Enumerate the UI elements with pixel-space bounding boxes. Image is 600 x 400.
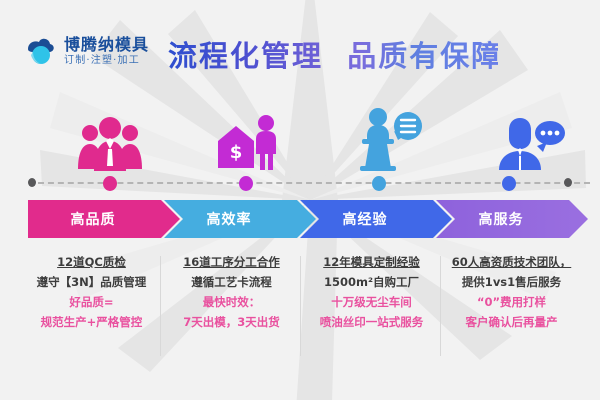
timeline xyxy=(14,176,586,190)
group-of-people-icon xyxy=(73,114,147,174)
banner-label-2: 高效率 xyxy=(207,209,252,229)
detail-line: 遵循工艺卡流程 xyxy=(160,272,303,292)
cloud-droplet-logo-icon xyxy=(24,34,58,68)
icon-cell-1 xyxy=(35,98,185,174)
speaker-at-podium-icon xyxy=(354,106,426,174)
detail-line: 1500m²自购工厂 xyxy=(300,272,443,292)
icon-cell-3 xyxy=(315,98,465,174)
brand-tagline: 订制·注塑·加工 xyxy=(64,56,149,66)
banner-label-1: 高品质 xyxy=(71,209,116,229)
icon-cell-2: $ xyxy=(175,98,325,174)
detail-line: 规范生产+严格管控 xyxy=(20,312,163,332)
detail-line: 16道工序分工合作 xyxy=(160,252,303,272)
detail-line: 12道QC质检 xyxy=(20,252,163,272)
house-with-money-and-person-icon: $ xyxy=(212,110,288,174)
page-title: 流程化管理 品质有保障 xyxy=(168,36,498,76)
detail-column-3: 12年模具定制经验 1500m²自购工厂 十万级无尘车间 喷油丝印一站式服务 xyxy=(300,252,443,332)
detail-line: 7天出模，3天出货 xyxy=(160,312,303,332)
infographic-canvas: 博腾纳模具 订制·注塑·加工 流程化管理 品质有保障 xyxy=(0,0,600,400)
detail-line: “0”费用打样 xyxy=(440,292,583,312)
banner-gao-pin-zhi[interactable]: 高品质 xyxy=(28,200,180,238)
banner-row: 高品质 高效率 高经验 高服务 xyxy=(28,200,576,238)
timeline-node-1[interactable] xyxy=(103,176,117,191)
timeline-node-3[interactable] xyxy=(372,176,386,191)
detail-line: 遵守【3N】品质管理 xyxy=(20,272,163,292)
detail-line: 最快时效： xyxy=(160,292,303,312)
detail-column-1: 12道QC质检 遵守【3N】品质管理 好品质= 规范生产+严格管控 xyxy=(20,252,163,332)
detail-line: 好品质= xyxy=(20,292,163,312)
detail-line: 提供1vs1售后服务 xyxy=(440,272,583,292)
detail-column-4: 60人高资质技术团队， 提供1vs1售后服务 “0”费用打样 客户确认后再量产 xyxy=(440,252,583,332)
person-with-chat-bubble-icon xyxy=(493,116,567,174)
detail-line: 客户确认后再量产 xyxy=(440,312,583,332)
detail-column-2: 16道工序分工合作 遵循工艺卡流程 最快时效： 7天出模，3天出货 xyxy=(160,252,303,332)
timeline-end-cap-right xyxy=(564,178,572,187)
icon-cell-4 xyxy=(455,98,600,174)
banner-gao-fu-wu[interactable]: 高服务 xyxy=(436,200,588,238)
banner-gao-jing-yan[interactable]: 高经验 xyxy=(300,200,452,238)
banner-label-4: 高服务 xyxy=(479,209,524,229)
detail-line: 60人高资质技术团队， xyxy=(440,252,583,272)
timeline-node-2[interactable] xyxy=(239,176,253,191)
banner-label-3: 高经验 xyxy=(343,209,388,229)
timeline-end-cap-left xyxy=(28,178,36,187)
svg-text:$: $ xyxy=(230,142,243,163)
detail-columns: 12道QC质检 遵守【3N】品质管理 好品质= 规范生产+严格管控 16道工序分… xyxy=(14,252,586,362)
detail-line: 喷油丝印一站式服务 xyxy=(300,312,443,332)
detail-line: 12年模具定制经验 xyxy=(300,252,443,272)
brand-name: 博腾纳模具 xyxy=(64,37,149,53)
banner-gao-xiao-lv[interactable]: 高效率 xyxy=(164,200,316,238)
detail-line: 十万级无尘车间 xyxy=(300,292,443,312)
timeline-node-4[interactable] xyxy=(502,176,516,191)
brand-logo: 博腾纳模具 订制·注塑·加工 xyxy=(24,34,149,68)
